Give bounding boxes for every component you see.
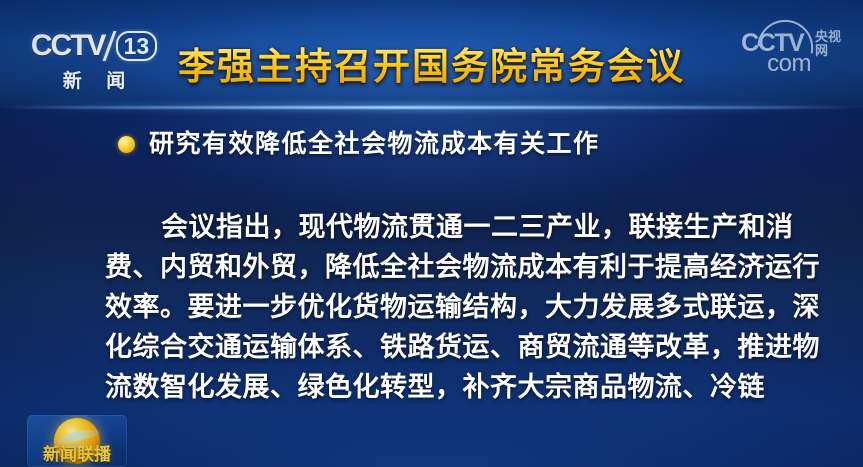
header-divider-line	[0, 106, 863, 109]
body-line: 会议指出，现代物流贯通一二三产业，联接生产和消	[105, 208, 805, 248]
body-line: 效率。要进一步优化货物运输结构，大力发展多式联运，深	[105, 288, 805, 328]
broadcast-screen: CCTV 13 新 闻 CCTV com 央视网 李强主持召开国务院常务会议 研…	[0, 0, 863, 467]
body-line: 化综合交通运输体系、铁路货运、商贸流通等改革，推进物	[105, 328, 805, 368]
page-title: 李强主持召开国务院常务会议	[0, 45, 863, 89]
subtitle-row: 研究有效降低全社会物流成本有关工作	[118, 129, 600, 159]
gold-bullet-dot-icon	[118, 136, 135, 153]
body-line: 流数智化发展、绿色化转型，补齐大宗商品物流、冷链	[105, 368, 805, 408]
xinwen-lianbo-program-logo: 新闻联播	[27, 415, 127, 467]
body-paragraph: 会议指出，现代物流贯通一二三产业，联接生产和消 费、内贸和外贸，降低全社会物流成…	[105, 208, 805, 408]
program-name-label: 新闻联播	[27, 446, 127, 465]
subtitle-label: 研究有效降低全社会物流成本有关工作	[149, 129, 600, 159]
body-line: 费、内贸和外贸，降低全社会物流成本有利于提高经济运行	[105, 248, 805, 288]
